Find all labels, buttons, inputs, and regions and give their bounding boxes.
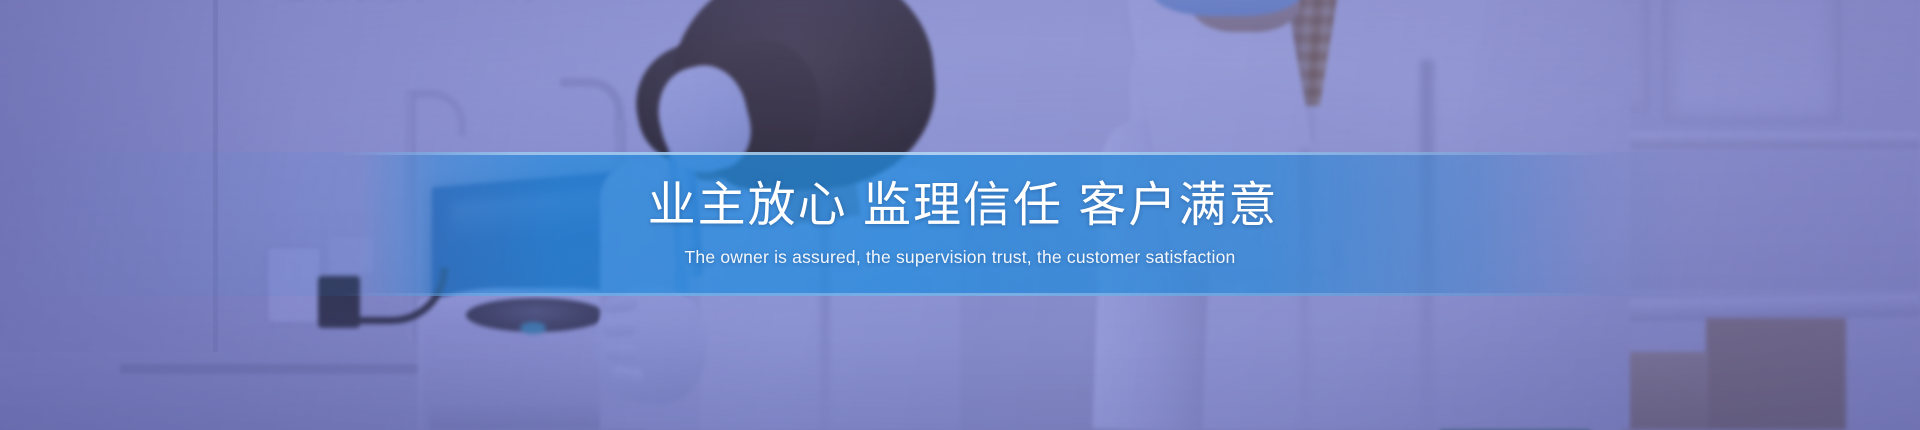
hero-banner: 业主放心 监理信任 客户满意 The owner is assured, the… bbox=[0, 0, 1920, 430]
banner-headline: 业主放心 监理信任 客户满意 bbox=[648, 179, 1279, 233]
banner-subline: The owner is assured, the supervision tr… bbox=[685, 246, 1236, 269]
banner-text-block: 业主放心 监理信任 客户满意 The owner is assured, the… bbox=[0, 152, 1920, 296]
